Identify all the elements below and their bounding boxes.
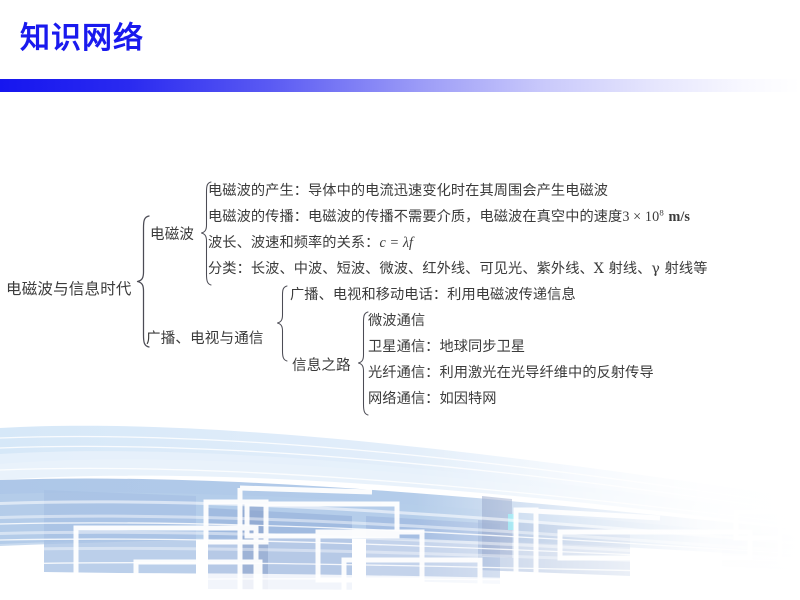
leaf-broadcast-tv-mobile: 广播、电视和移动电话：利用电磁波传递信息 <box>290 284 576 304</box>
knowledge-network-diagram: 电磁波与信息时代 电磁波 电磁波的产生：导体中的电流迅速变化时在其周围会产生电磁… <box>0 172 800 432</box>
diagram-branch-electromagnetic-wave-label: 电磁波 <box>150 223 194 244</box>
leaf-satellite-communication: 卫星通信：地球同步卫星 <box>368 336 525 356</box>
leaf-network-communication: 网络通信：如因特网 <box>368 388 497 408</box>
leaf-optical-fiber-communication: 光纤通信：利用激光在光导纤维中的反射传导 <box>368 362 654 382</box>
wave-speed-unit: m/s <box>668 209 690 225</box>
wave-speed-exponent: 8 <box>659 207 664 217</box>
leaf-wavelength-relation: 波长、波速和频率的关系：c = λf <box>208 232 413 252</box>
diagram-branch-broadcast-tv-communication-label: 广播、电视与通信 <box>146 327 264 348</box>
leaf-wave-propagation-text: 电磁波的传播：电磁波的传播不需要介质，电磁波在真空中的速度 <box>208 209 622 225</box>
diagram-subbranch-information-road-label: 信息之路 <box>292 354 351 375</box>
wave-formula: c = λf <box>379 235 413 251</box>
title-gradient-divider <box>0 79 800 92</box>
bottom-abstract-graphic <box>0 424 800 600</box>
leaf-wave-propagation: 电磁波的传播：电磁波的传播不需要介质，电磁波在真空中的速度3 × 108 m/s <box>208 206 690 226</box>
leaf-wavelength-relation-text: 波长、波速和频率的关系： <box>208 235 379 251</box>
leaf-microwave-communication: 微波通信 <box>368 310 425 330</box>
slide-canvas: 知识网络 电磁波与信息时代 电磁波 电磁波的产生：导体中的电流迅速变化时在其周围… <box>0 0 800 600</box>
wave-speed-value: 3 × 10 <box>622 209 659 225</box>
leaf-wave-generation: 电磁波的产生：导体中的电流迅速变化时在其周围会产生电磁波 <box>208 180 608 200</box>
leaf-wave-classification: 分类：长波、中波、短波、微波、红外线、可见光、紫外线、X 射线、γ 射线等 <box>208 258 708 278</box>
branch-broadcast-brace <box>276 284 290 364</box>
page-title: 知识网络 <box>20 19 144 59</box>
diagram-root-label: 电磁波与信息时代 <box>6 277 132 299</box>
bottom-decoration <box>0 424 800 600</box>
